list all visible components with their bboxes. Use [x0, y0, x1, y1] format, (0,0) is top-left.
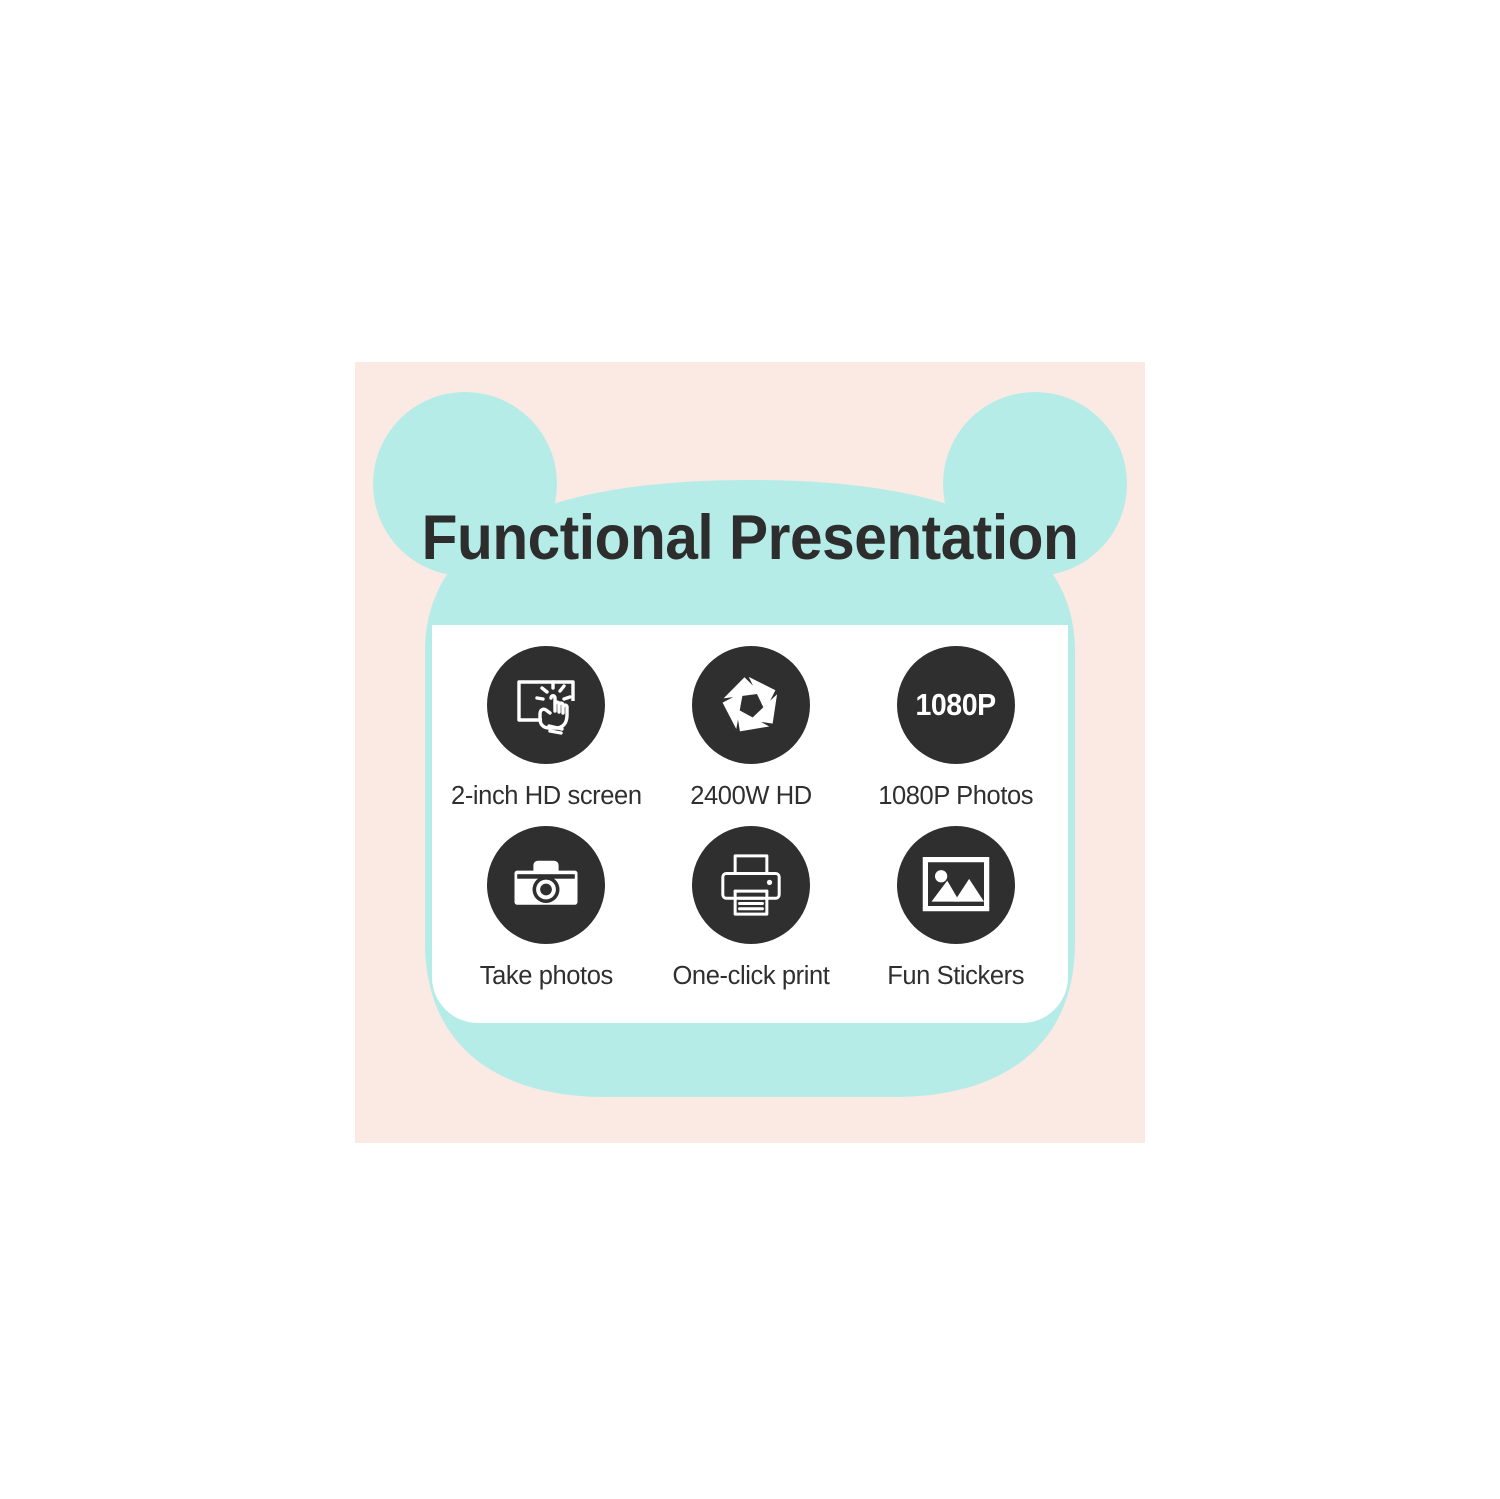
picture-frame-icon: [897, 826, 1015, 944]
printer-icon: [692, 826, 810, 944]
feature-label: 1080P Photos: [878, 782, 1033, 811]
feature-label: 2-inch HD screen: [451, 782, 642, 811]
poster-stage: Functional Presentation: [0, 0, 1500, 1499]
feature-label: One-click print: [673, 962, 830, 991]
feature-item-stickers[interactable]: Fun Stickers: [853, 826, 1058, 1006]
camera-aperture-icon: [692, 646, 810, 764]
resolution-1080p-icon: 1080P: [897, 646, 1015, 764]
feature-item-1080p[interactable]: 1080P 1080P Photos: [853, 646, 1058, 826]
feature-item-aperture[interactable]: 2400W HD: [649, 646, 854, 826]
resolution-1080p-label: 1080P: [916, 687, 996, 723]
page-title: Functional Presentation: [383, 500, 1118, 576]
feature-label: 2400W HD: [690, 782, 812, 811]
camera-icon: [487, 826, 605, 944]
feature-grid: 2-inch HD screen: [444, 646, 1058, 1006]
feature-item-print[interactable]: One-click print: [649, 826, 854, 1006]
feature-label: Take photos: [480, 962, 613, 991]
touchscreen-tap-icon: [487, 646, 605, 764]
feature-item-screen[interactable]: 2-inch HD screen: [444, 646, 649, 826]
feature-label: Fun Stickers: [887, 962, 1024, 991]
feature-item-take-photos[interactable]: Take photos: [444, 826, 649, 1006]
